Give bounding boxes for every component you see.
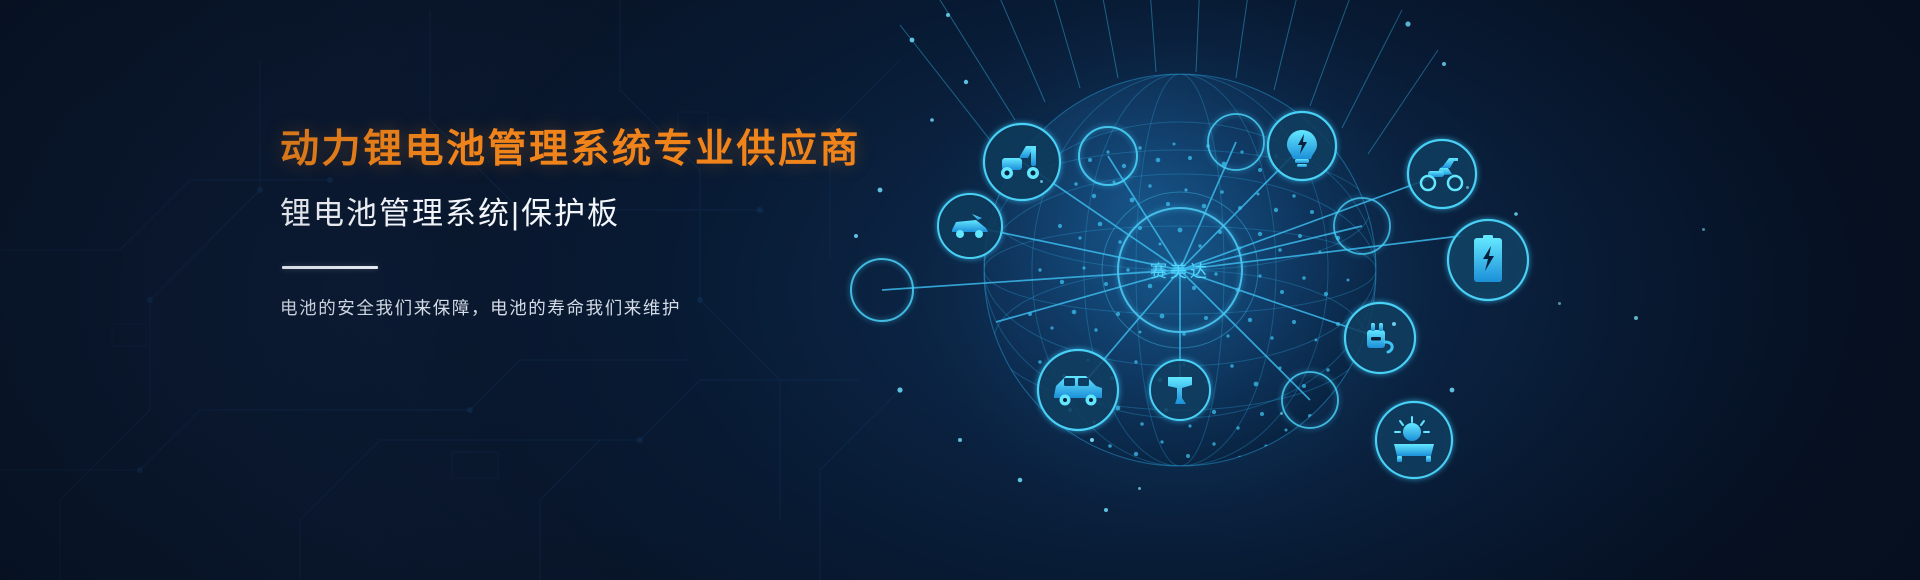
banner-vignette	[0, 0, 1920, 580]
hero-banner: 动力锂电池管理系统专业供应商 锂电池管理系统|保护板 电池的安全我们来保障，电池…	[0, 0, 1920, 580]
